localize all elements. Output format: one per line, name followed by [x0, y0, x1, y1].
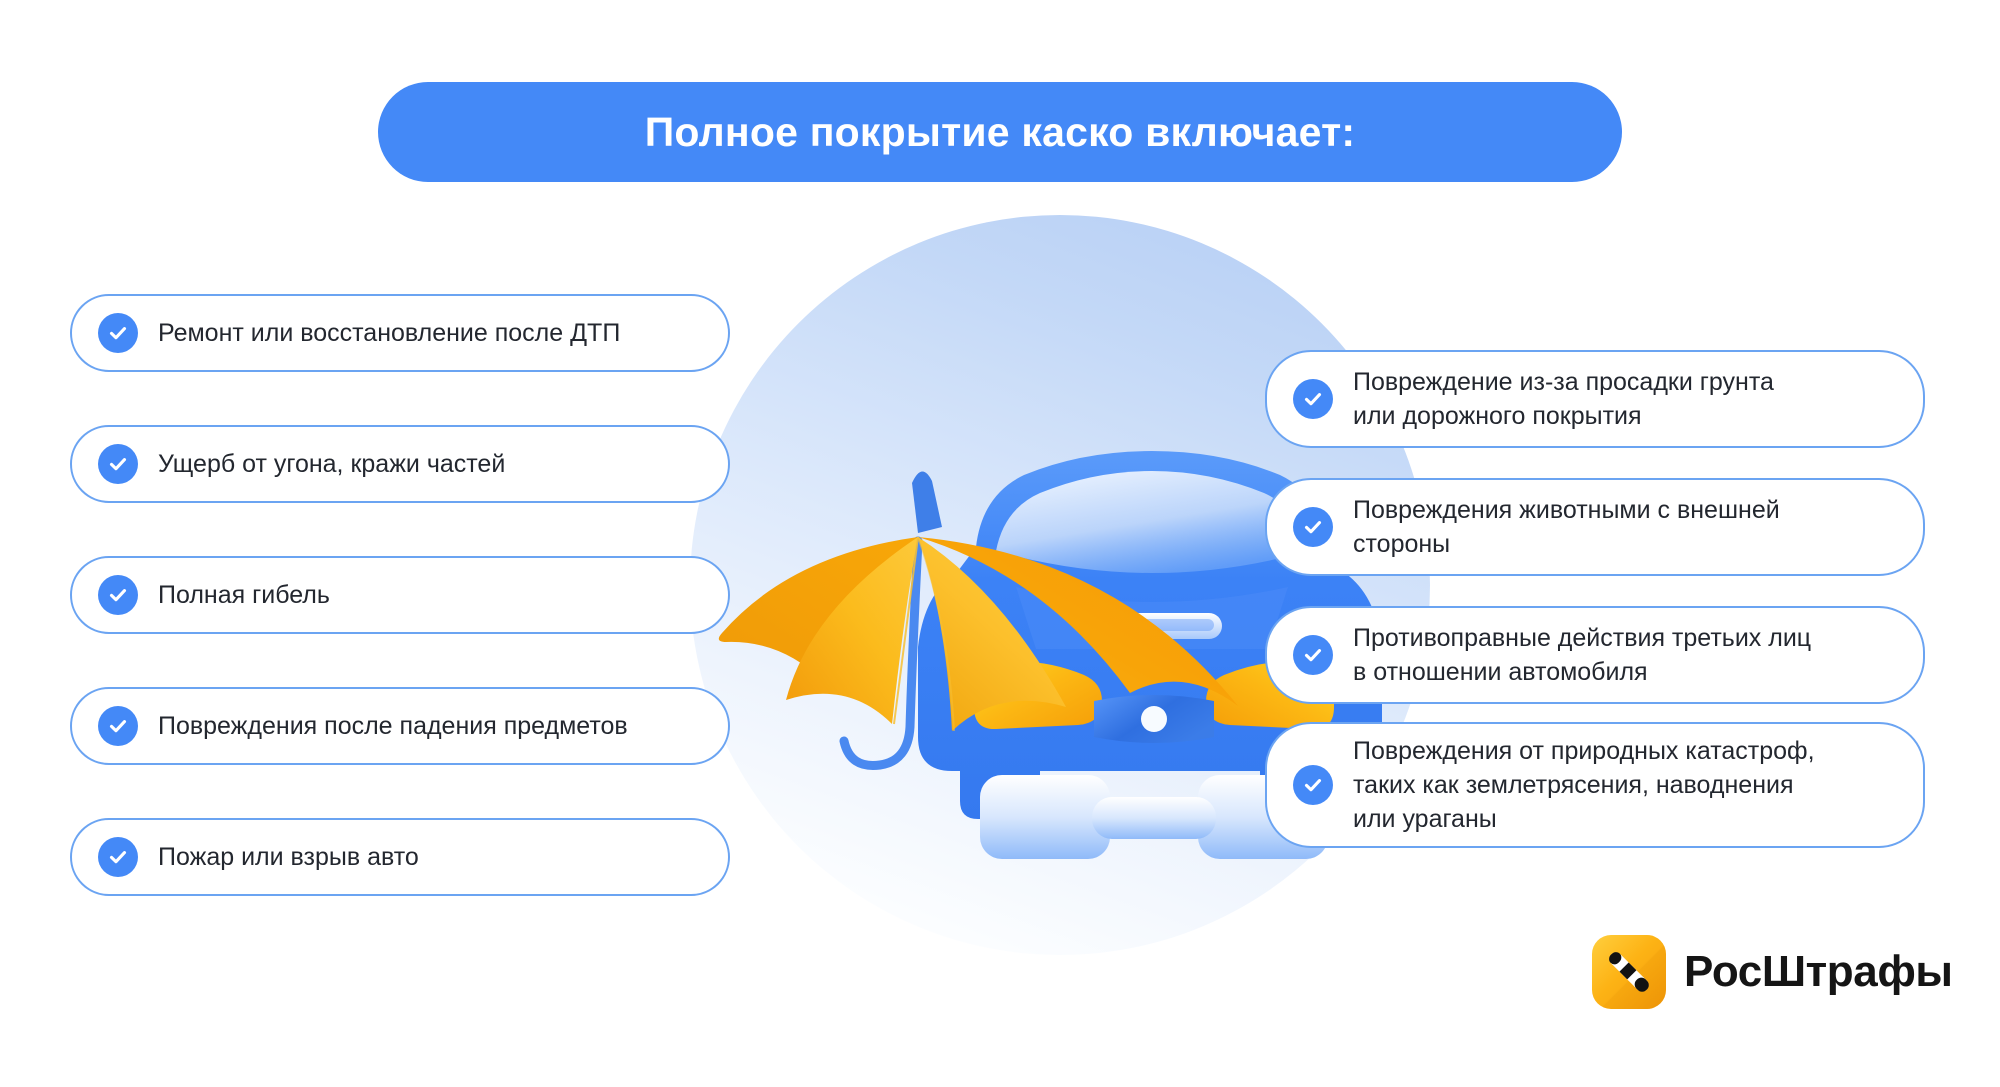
list-item-label: Ущерб от угона, кражи частей — [158, 447, 505, 481]
page-title: Полное покрытие каско включает: — [645, 109, 1355, 156]
list-item-label: Ремонт или восстановление после ДТП — [158, 316, 620, 350]
list-item-label: Повреждения после падения предметов — [158, 709, 628, 743]
check-circle-icon — [1293, 635, 1333, 675]
list-item[interactable]: Ремонт или восстановление после ДТП — [70, 294, 730, 372]
check-circle-icon — [98, 444, 138, 484]
check-circle-icon — [98, 575, 138, 615]
list-item[interactable]: Повреждения после падения предметов — [70, 687, 730, 765]
infographic-canvas: Полное покрытие каско включает: — [0, 0, 2000, 1087]
list-item-label: Повреждения животными с внешней стороны — [1353, 493, 1780, 561]
list-item[interactable]: Повреждения животными с внешней стороны — [1265, 478, 1925, 576]
list-item[interactable]: Полная гибель — [70, 556, 730, 634]
check-circle-icon — [1293, 379, 1333, 419]
check-circle-icon — [98, 313, 138, 353]
brand-logo[interactable]: РосШтрафы — [1592, 935, 1953, 1009]
list-item-label: Полная гибель — [158, 578, 330, 612]
check-circle-icon — [98, 706, 138, 746]
list-item-label: Повреждение из-за просадки грунта или до… — [1353, 365, 1774, 433]
header-banner: Полное покрытие каско включает: — [378, 82, 1622, 182]
check-circle-icon — [98, 837, 138, 877]
check-circle-icon — [1293, 765, 1333, 805]
list-item[interactable]: Повреждения от природных катастроф, таки… — [1265, 722, 1925, 848]
list-item-label: Повреждения от природных катастроф, таки… — [1353, 734, 1815, 836]
list-item[interactable]: Ущерб от угона, кражи частей — [70, 425, 730, 503]
list-item[interactable]: Противоправные действия третьих лиц в от… — [1265, 606, 1925, 704]
check-circle-icon — [1293, 507, 1333, 547]
list-item-label: Пожар или взрыв авто — [158, 840, 419, 874]
list-item[interactable]: Пожар или взрыв авто — [70, 818, 730, 896]
brand-name: РосШтрафы — [1684, 947, 1953, 997]
baton-icon — [1592, 935, 1666, 1009]
list-item-label: Противоправные действия третьих лиц в от… — [1353, 621, 1811, 689]
list-item[interactable]: Повреждение из-за просадки грунта или до… — [1265, 350, 1925, 448]
